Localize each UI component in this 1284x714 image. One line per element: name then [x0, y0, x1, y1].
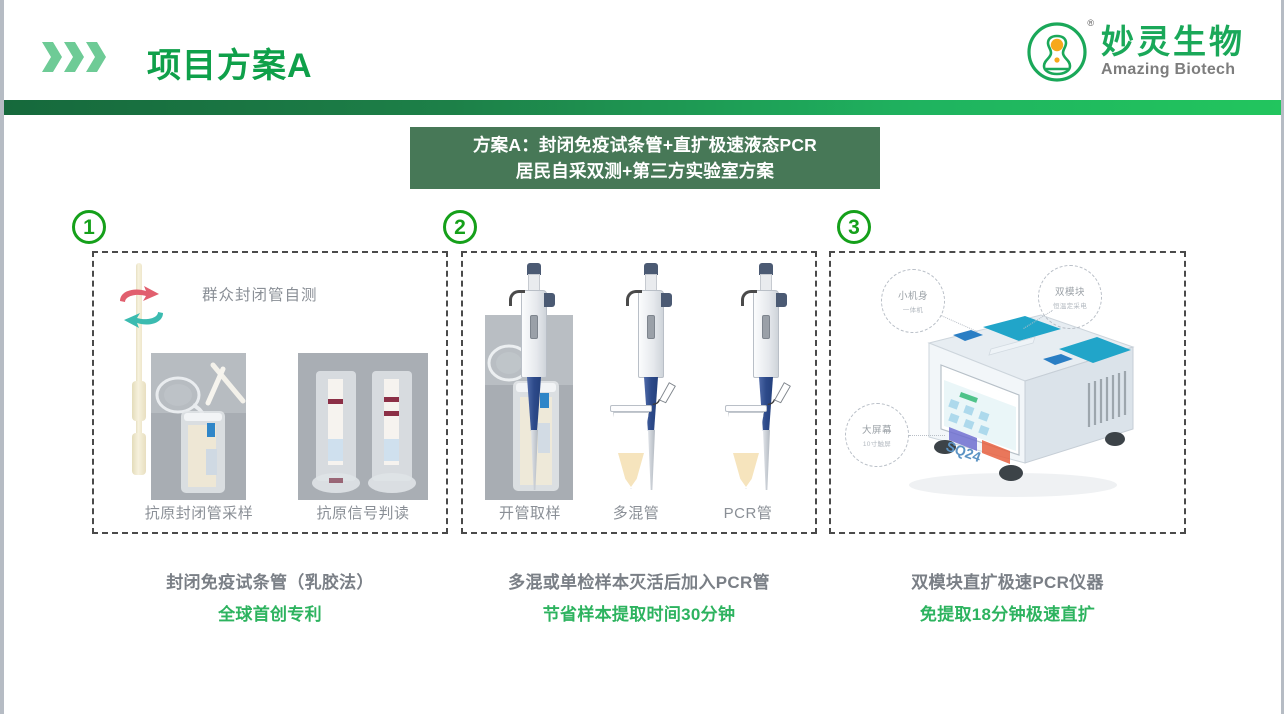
step-3-foot-main: 双模块直扩极速PCR仪器	[829, 568, 1186, 593]
pcr-tube-figure	[725, 405, 767, 489]
multi-mix-tube-figure	[610, 405, 652, 489]
brand-logo: ® 妙灵生物 Amazing Biotech	[1026, 18, 1245, 84]
chevron-right-icon	[64, 42, 84, 72]
step-3-foot-sub: 免提取18分钟极速直扩	[829, 600, 1186, 625]
panel-1-heading: 群众封闭管自测	[202, 283, 318, 305]
step-1-foot-sub: 全球首创专利	[92, 600, 448, 625]
callout-title: 小机身	[898, 288, 928, 302]
tube-lid-arm-icon	[649, 381, 679, 407]
scheme-banner: 方案A：封闭免疫试条管+直扩极速液态PCR 居民自采双测+第三方实验室方案	[410, 127, 880, 189]
photo-caption-1-1: 抗原封闭管采样	[134, 502, 264, 523]
swab-stick-icon	[127, 263, 151, 463]
slide-canvas: 项目方案A ® 妙灵生物 Amazing Biotech 方案A：封闭免疫试条管…	[0, 0, 1284, 714]
tube-lid-arm-icon	[764, 381, 794, 407]
step-3-footer: 双模块直扩极速PCR仪器 免提取18分钟极速直扩	[829, 568, 1186, 625]
banner-line-1: 方案A：封闭免疫试条管+直扩极速液态PCR	[473, 132, 817, 158]
chevron-group-icon	[42, 42, 106, 72]
step-number-2: 2	[443, 210, 477, 244]
callout-large-screen: 大屏幕 10寸触屏	[845, 403, 909, 467]
banner-line-2: 居民自采双测+第三方实验室方案	[516, 158, 774, 184]
step-panel-3: SQ24 小机身 一体机 双模块 恒温定采电 大屏幕 10寸触屏	[829, 251, 1186, 534]
logo-name-cn: 妙灵生物	[1101, 25, 1245, 58]
header-divider-rule	[4, 100, 1281, 115]
photo-caption-1-2: 抗原信号判读	[298, 502, 428, 523]
chevron-right-icon	[86, 42, 106, 72]
callout-leader-line	[909, 435, 945, 436]
step-1-foot-main: 封闭免疫试条管（乳胶法）	[92, 568, 448, 593]
photo-caption-2-2: 多混管	[591, 502, 681, 523]
step-panel-2: 开管取样 多混管 PCR管	[461, 251, 817, 534]
step-number-1: 1	[72, 210, 106, 244]
callout-subtitle: 一体机	[903, 304, 923, 314]
callout-title: 双模块	[1055, 284, 1085, 298]
callout-dual-module: 双模块 恒温定采电	[1038, 265, 1102, 329]
page-title: 项目方案A	[147, 38, 313, 87]
step-panel-1: 群众封闭管自测	[92, 251, 448, 534]
callout-subtitle: 10寸触屏	[863, 438, 891, 448]
flask-circle-logo-icon: ®	[1026, 18, 1092, 84]
slide-header: 项目方案A ® 妙灵生物 Amazing Biotech	[4, 0, 1281, 100]
pipette-figure-1	[511, 263, 557, 493]
step-2-footer: 多混或单检样本灭活后加入PCR管 节省样本提取时间30分钟	[461, 568, 817, 625]
photo-caption-2-3: PCR管	[703, 502, 793, 523]
photo-caption-2-1: 开管取样	[475, 502, 585, 523]
chevron-right-icon	[42, 42, 62, 72]
step-1-footer: 封闭免疫试条管（乳胶法） 全球首创专利	[92, 568, 448, 625]
callout-title: 大屏幕	[862, 422, 892, 436]
antigen-sampling-photo	[151, 353, 246, 500]
step-2-foot-main: 多混或单检样本灭活后加入PCR管	[461, 568, 817, 593]
antigen-result-photo	[298, 353, 428, 500]
callout-subtitle: 恒温定采电	[1053, 300, 1087, 310]
logo-name-en: Amazing Biotech	[1101, 62, 1245, 78]
step-number-3: 3	[837, 210, 871, 244]
step-2-foot-sub: 节省样本提取时间30分钟	[461, 600, 817, 625]
registered-trademark-icon: ®	[1087, 18, 1094, 28]
callout-small-body: 小机身 一体机	[881, 269, 945, 333]
